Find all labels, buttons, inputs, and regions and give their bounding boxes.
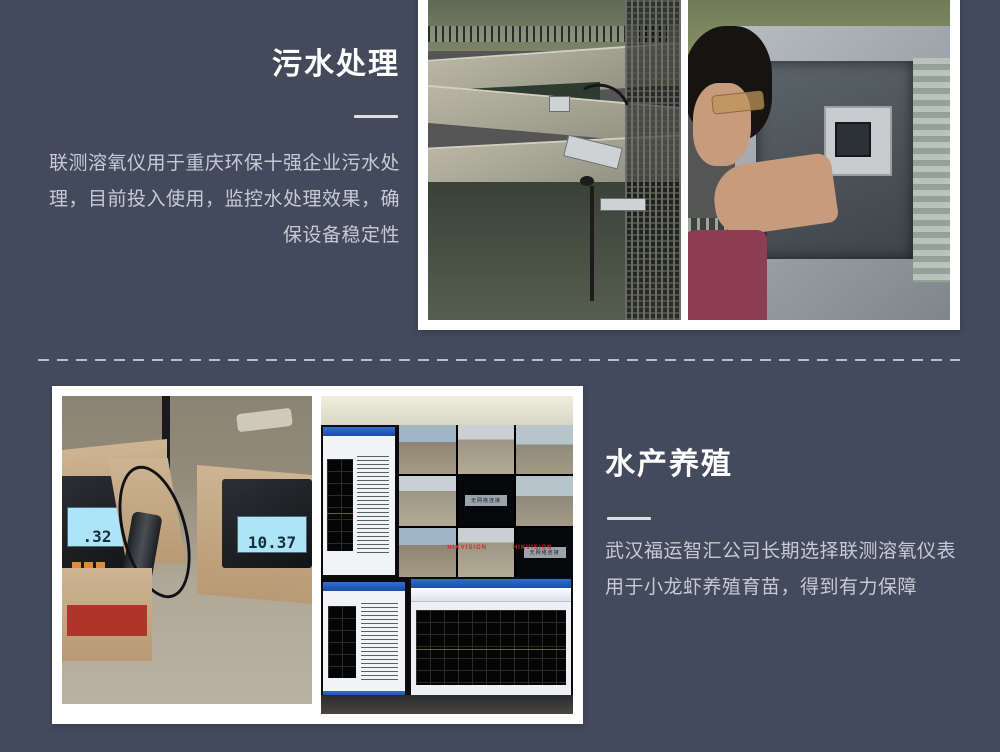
photo-chart-trace xyxy=(327,513,353,514)
photo-cctv-tile xyxy=(516,476,573,526)
photo-instrument-screen xyxy=(835,122,872,157)
photo-cctv-tile xyxy=(399,425,456,475)
photo-mesh-fence xyxy=(625,0,681,320)
photo-hikvision-logo: HIKVISION xyxy=(447,545,487,551)
photo-data-table xyxy=(361,603,399,680)
technician-cabinet-photo xyxy=(688,0,950,320)
photo-chart-grid xyxy=(328,606,356,678)
meters-field-photo: .32 10.37 xyxy=(62,396,312,704)
photo-cctv-tile-nosignal: 无网络连接 xyxy=(516,528,573,578)
photo-probe-pole xyxy=(590,186,594,301)
section-title-aquaculture: 水产养殖 xyxy=(605,448,733,481)
monitoring-room-photo: 无网络连接 无网络连接 HIKVISION HIKVISION xyxy=(321,396,573,714)
photo-window-titlebar xyxy=(323,427,395,436)
section-body-aquaculture: 武汉福运智汇公司长期选择联测溶氧仪表用于小龙虾养殖育苗，得到有力保障 xyxy=(605,534,965,606)
section-rule-aquaculture xyxy=(607,517,651,520)
photo-probe-bracket-2 xyxy=(600,198,646,211)
photo-ceiling xyxy=(321,396,573,425)
promo-banner: 污水处理 联测溶氧仪用于重庆环保十强企业污水处理，目前投入使用，监控水处理效果，… xyxy=(0,0,1000,752)
section-divider xyxy=(38,359,960,361)
section-rule-wastewater xyxy=(354,115,398,118)
photo-screen-right-bottom xyxy=(409,577,573,701)
photo-person-shirt xyxy=(688,230,767,320)
photo-hikvision-logo: HIKVISION xyxy=(513,545,553,551)
photo-data-table xyxy=(357,456,389,554)
photo-cctv-tile xyxy=(399,476,456,526)
photo-window-titlebar xyxy=(411,579,571,588)
photo-window-toolbar xyxy=(411,588,571,602)
photo-cctv-tile xyxy=(399,528,456,578)
photo-cabinet-door xyxy=(913,58,950,282)
photo-window-titlebar xyxy=(323,582,405,591)
photo-screen-left-top xyxy=(321,425,397,578)
photo-meter-right-lcd: 10.37 xyxy=(237,516,307,553)
photo-cctv-grid: 无网络连接 无网络连接 xyxy=(399,425,573,578)
photo-cctv-tile-nosignal: 无网络连接 xyxy=(458,476,515,526)
section-title-wastewater: 污水处理 xyxy=(272,48,400,81)
photo-desk xyxy=(321,695,573,714)
wastewater-basin-photo xyxy=(428,0,681,320)
photo-probe-sensor xyxy=(580,176,594,186)
photo-chart-grid xyxy=(327,459,353,551)
photo-cctv-tile xyxy=(458,528,515,578)
photo-no-signal-label: 无网络连接 xyxy=(465,495,507,506)
section-body-wastewater: 联测溶氧仪用于重庆环保十强企业污水处理，目前投入使用，监控水处理效果，确保设备稳… xyxy=(40,146,400,254)
photo-trend-trace xyxy=(416,649,566,650)
photo-carton-label xyxy=(67,605,147,636)
photo-cctv-tile xyxy=(516,425,573,475)
photo-screen-left-bottom xyxy=(321,580,407,701)
photo-trend-grid xyxy=(416,610,566,684)
photo-cctv-tile xyxy=(458,425,515,475)
